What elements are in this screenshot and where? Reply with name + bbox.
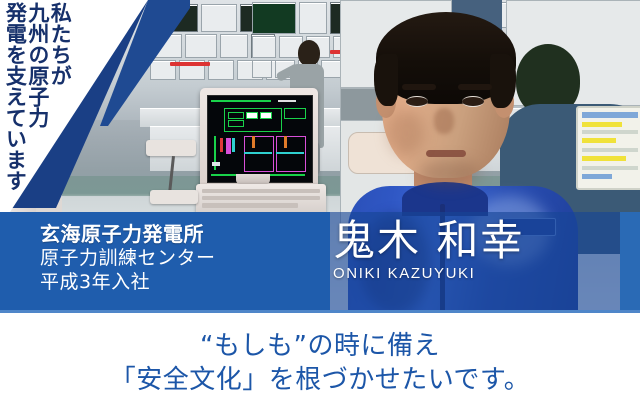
quote-line1: “もしも”の時に備え: [200, 329, 440, 363]
monitor-stand: [236, 174, 270, 184]
employee-name-block: 鬼木 和幸 ONIKI KAZUYUKI: [333, 218, 524, 282]
background-monitor: [576, 106, 640, 190]
cheek-shadow: [388, 110, 424, 156]
band-right-accent: [620, 212, 640, 310]
band-underline: [0, 310, 640, 313]
monitor-screen: [207, 95, 313, 183]
employee-name-jp: 鬼木 和幸: [333, 218, 524, 263]
organization-line3: 平成3年入社: [40, 271, 216, 295]
organization-line2: 原子力訓練センター: [40, 247, 216, 271]
chin-shadow: [418, 160, 480, 186]
desk-microphone: [146, 140, 196, 156]
microphone-base: [150, 190, 198, 204]
quote-block: “もしも”の時に備え 「安全文化」を根づかせたいです。: [0, 316, 640, 410]
eye-right: [462, 97, 484, 106]
eye-left: [406, 97, 428, 106]
hair-side-right: [490, 54, 516, 108]
operator-keyboard: [196, 184, 326, 214]
hair-side-left: [374, 54, 398, 106]
nose: [434, 108, 454, 134]
indicator-led: [170, 62, 210, 66]
headline-column-3: 発電を支えています: [4, 2, 25, 191]
jacket-collar: [402, 182, 488, 216]
organization-line1: 玄海原子力発電所: [40, 222, 216, 247]
employee-profile-banner: 私たちが 九州の原子力 発電を支えています 玄海原子力発電所 原子力訓練センター…: [0, 0, 640, 410]
mouth: [426, 150, 466, 157]
eyebrow-left: [402, 84, 436, 90]
headline-vertical-text: 私たちが 九州の原子力 発電を支えています: [4, 2, 70, 191]
eyebrow-right: [458, 84, 492, 90]
employee-name-en: ONIKI KAZUYUKI: [333, 265, 524, 282]
quote-line2: 「安全文化」を根づかせたいです。: [110, 363, 531, 397]
headline-column-2: 九州の原子力: [26, 2, 47, 191]
headline-column-1: 私たちが: [49, 2, 70, 191]
organization-block: 玄海原子力発電所 原子力訓練センター 平成3年入社: [40, 222, 216, 295]
